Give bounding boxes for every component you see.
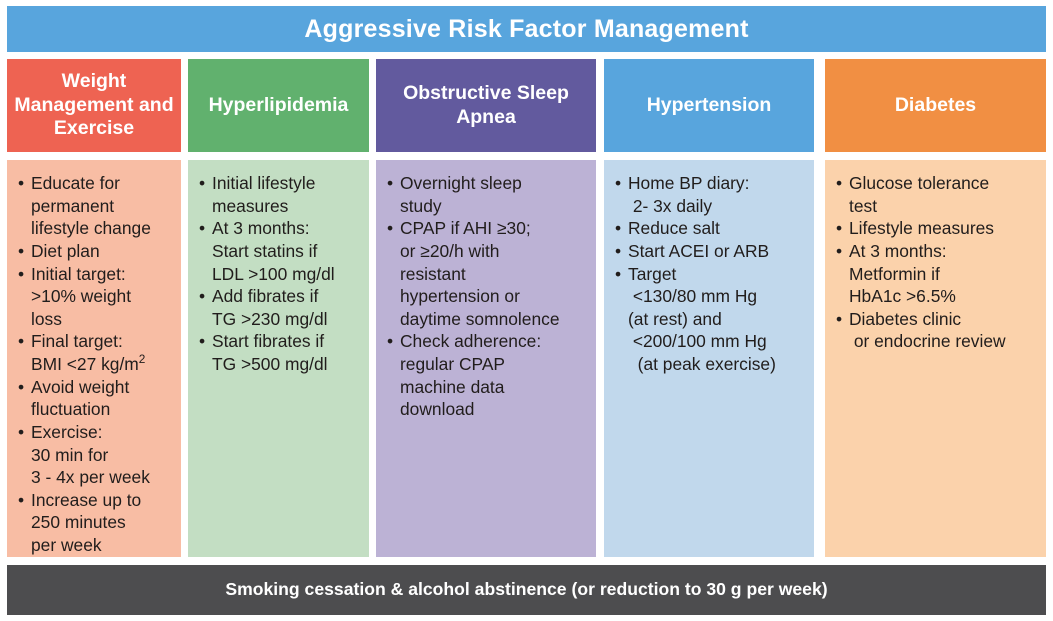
list-item-line: HbA1c >6.5%: [849, 285, 1040, 308]
bullet-list: Overnight sleepstudyCPAP if AHI ≥30;or ≥…: [386, 172, 590, 421]
list-item-line: Start fibrates if: [212, 330, 363, 353]
column-header-hyperlipidemia: Hyperlipidemia: [188, 59, 369, 152]
list-item-line: LDL >100 mg/dl: [212, 263, 363, 286]
list-item-line: At 3 months:: [849, 240, 1040, 263]
column-header-label: Diabetes: [895, 94, 976, 118]
list-item: Reduce salt: [614, 217, 808, 240]
list-item-line: Reduce salt: [628, 217, 808, 240]
figure-title-bar: Aggressive Risk Factor Management: [7, 6, 1046, 52]
list-item-line: hypertension or: [400, 285, 590, 308]
list-item: Educate forpermanentlifestyle change: [17, 172, 175, 240]
column-header-label: Obstructive Sleep Apnea: [382, 82, 590, 130]
list-item-line: >10% weight: [31, 285, 175, 308]
column-header-label: Hypertension: [647, 94, 772, 118]
figure-footer-text: Smoking cessation & alcohol abstinence (…: [225, 581, 827, 599]
list-item-line: Diabetes clinic: [849, 308, 1040, 331]
list-item: Initial lifestylemeasures: [198, 172, 363, 217]
column-hypertension: HypertensionHome BP diary: 2- 3x dailyRe…: [604, 59, 814, 557]
list-item-line: per week: [31, 534, 175, 557]
list-item: Overnight sleepstudy: [386, 172, 590, 217]
list-item-line: permanent: [31, 195, 175, 218]
figure-footer-bar: Smoking cessation & alcohol abstinence (…: [7, 565, 1046, 615]
list-item-line: Overnight sleep: [400, 172, 590, 195]
list-item-line: TG >500 mg/dl: [212, 353, 363, 376]
list-item-line: resistant: [400, 263, 590, 286]
list-item-line: Educate for: [31, 172, 175, 195]
column-diabetes: DiabetesGlucose tolerancetestLifestyle m…: [825, 59, 1046, 557]
columns-container: Weight Management and ExerciseEducate fo…: [7, 59, 1046, 557]
list-item-line: <200/100 mm Hg: [628, 330, 808, 353]
list-item: Initial target:>10% weightloss: [17, 263, 175, 331]
list-item-line: 250 minutes: [31, 511, 175, 534]
list-item: At 3 months:Metformin ifHbA1c >6.5%: [835, 240, 1040, 308]
list-item-line: download: [400, 398, 590, 421]
list-item-line: 3 - 4x per week: [31, 466, 175, 489]
list-item: Avoid weightfluctuation: [17, 376, 175, 421]
list-item-line: Final target:: [31, 330, 175, 353]
list-item: Add fibrates ifTG >230 mg/dl: [198, 285, 363, 330]
list-item-line: Increase up to: [31, 489, 175, 512]
list-item-line: or endocrine review: [849, 330, 1040, 353]
list-item-line: BMI <27 kg/m2: [31, 353, 175, 376]
list-item: Diabetes clinic or endocrine review: [835, 308, 1040, 353]
column-obstructive-sleep-apnea: Obstructive Sleep ApneaOvernight sleepst…: [376, 59, 596, 557]
list-item-line: lifestyle change: [31, 217, 175, 240]
list-item-line: Initial lifestyle: [212, 172, 363, 195]
column-body-diabetes: Glucose tolerancetestLifestyle measuresA…: [825, 160, 1046, 557]
list-item-line: TG >230 mg/dl: [212, 308, 363, 331]
list-item: Diet plan: [17, 240, 175, 263]
column-header-obstructive-sleep-apnea: Obstructive Sleep Apnea: [376, 59, 596, 152]
list-item-line: or ≥20/h with: [400, 240, 590, 263]
column-header-diabetes: Diabetes: [825, 59, 1046, 152]
column-weight-management-and-exercise: Weight Management and ExerciseEducate fo…: [7, 59, 181, 557]
figure-title: Aggressive Risk Factor Management: [304, 17, 748, 42]
list-item: Target <130/80 mm Hg(at rest) and <200/1…: [614, 263, 808, 376]
column-body-obstructive-sleep-apnea: Overnight sleepstudyCPAP if AHI ≥30;or ≥…: [376, 160, 596, 557]
list-item-line: Start statins if: [212, 240, 363, 263]
column-body-hypertension: Home BP diary: 2- 3x dailyReduce saltSta…: [604, 160, 814, 557]
list-item: Increase up to250 minutesper week: [17, 489, 175, 557]
list-item-line: 2- 3x daily: [628, 195, 808, 218]
column-header-weight-management-and-exercise: Weight Management and Exercise: [7, 59, 181, 152]
list-item-line: Initial target:: [31, 263, 175, 286]
column-body-hyperlipidemia: Initial lifestylemeasuresAt 3 months:Sta…: [188, 160, 369, 557]
column-header-hypertension: Hypertension: [604, 59, 814, 152]
list-item: Start ACEI or ARB: [614, 240, 808, 263]
bullet-list: Educate forpermanentlifestyle changeDiet…: [17, 172, 175, 557]
list-item-line: study: [400, 195, 590, 218]
list-item: Final target:BMI <27 kg/m2: [17, 330, 175, 375]
list-item: Check adherence:regular CPAPmachine data…: [386, 330, 590, 421]
list-item-line: CPAP if AHI ≥30;: [400, 217, 590, 240]
list-item-line: Add fibrates if: [212, 285, 363, 308]
column-body-weight-management-and-exercise: Educate forpermanentlifestyle changeDiet…: [7, 160, 181, 557]
list-item-line: measures: [212, 195, 363, 218]
list-item-line: Diet plan: [31, 240, 175, 263]
risk-factor-management-figure: Aggressive Risk Factor Management Weight…: [0, 0, 1053, 621]
list-item-line: Exercise:: [31, 421, 175, 444]
list-item-line: Metformin if: [849, 263, 1040, 286]
column-header-label: Weight Management and Exercise: [13, 70, 175, 141]
list-item-line: daytime somnolence: [400, 308, 590, 331]
list-item: CPAP if AHI ≥30;or ≥20/h withresistanthy…: [386, 217, 590, 330]
list-item-line: regular CPAP: [400, 353, 590, 376]
column-header-label: Hyperlipidemia: [209, 94, 349, 118]
list-item: Lifestyle measures: [835, 217, 1040, 240]
list-item: Home BP diary: 2- 3x daily: [614, 172, 808, 217]
bullet-list: Initial lifestylemeasuresAt 3 months:Sta…: [198, 172, 363, 376]
list-item-line: (at rest) and: [628, 308, 808, 331]
bullet-list: Glucose tolerancetestLifestyle measuresA…: [835, 172, 1040, 353]
list-item-line: Check adherence:: [400, 330, 590, 353]
list-item-line: fluctuation: [31, 398, 175, 421]
list-item: At 3 months:Start statins ifLDL >100 mg/…: [198, 217, 363, 285]
list-item-line: 30 min for: [31, 444, 175, 467]
list-item-line: test: [849, 195, 1040, 218]
list-item-line: machine data: [400, 376, 590, 399]
list-item-line: <130/80 mm Hg: [628, 285, 808, 308]
list-item-line: (at peak exercise): [628, 353, 808, 376]
list-item-line: loss: [31, 308, 175, 331]
list-item-line: Lifestyle measures: [849, 217, 1040, 240]
list-item-line: Avoid weight: [31, 376, 175, 399]
list-item-line: At 3 months:: [212, 217, 363, 240]
list-item-line: Start ACEI or ARB: [628, 240, 808, 263]
list-item: Glucose tolerancetest: [835, 172, 1040, 217]
list-item: Exercise:30 min for3 - 4x per week: [17, 421, 175, 489]
list-item-line: Target: [628, 263, 808, 286]
bullet-list: Home BP diary: 2- 3x dailyReduce saltSta…: [614, 172, 808, 376]
list-item-line: Home BP diary:: [628, 172, 808, 195]
list-item: Start fibrates ifTG >500 mg/dl: [198, 330, 363, 375]
column-hyperlipidemia: HyperlipidemiaInitial lifestylemeasuresA…: [188, 59, 369, 557]
list-item-line: Glucose tolerance: [849, 172, 1040, 195]
